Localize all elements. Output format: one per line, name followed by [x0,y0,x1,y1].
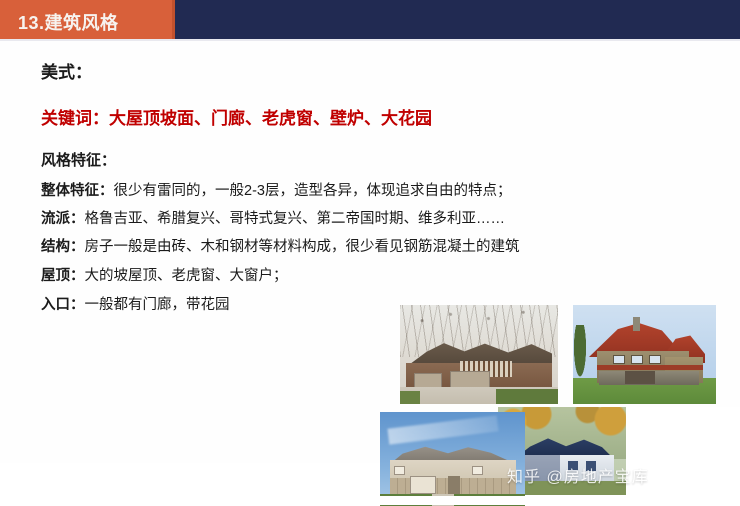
keywords-line: 关键词：大屋顶坡面、门廊、老虎窗、壁炉、大花园 [41,104,432,129]
header-divider [0,39,740,41]
slide-header: 13.建筑风格 [0,0,740,39]
slide-body: 美式： 关键词：大屋顶坡面、门廊、老虎窗、壁炉、大花园 风格特征： 整体特征：很… [0,42,740,463]
collage-gap [626,407,740,505]
photo-window [613,355,625,364]
photo-front-door [448,476,460,494]
photo-eave-band [597,365,703,370]
feature-row-structure: 结构：房子一般是由砖、木和钢材等材料构成，很少看见钢筋混凝土的建筑 [41,235,520,256]
feature-label: 结构： [41,239,85,255]
photo-window [472,466,483,475]
feature-label: 流派： [41,211,85,227]
feature-label: 屋顶： [41,268,85,284]
feature-row-overall: 整体特征：很少有雷同的，一般2-3层，造型各异，体现追求自由的特点； [41,179,511,200]
tudor-brick-house-photo [400,305,558,404]
photo-window [649,355,661,364]
feature-value: 一般都有门廊，带花园 [85,297,230,313]
feature-label: 入口： [41,297,85,313]
features-heading: 风格特征： [41,149,116,170]
feature-label: 整体特征： [41,183,114,199]
feature-value: 房子一般是由砖、木和钢材等材料构成，很少看见钢筋混凝土的建筑 [85,239,520,255]
photo-chimney [633,317,640,331]
feature-value: 格鲁吉亚、希腊复兴、哥特式复兴、第二帝国时期、维多利亚…… [85,211,506,227]
photo-window [631,355,643,364]
photo-tree [573,325,587,381]
red-roof-render [573,305,716,404]
photo-window [394,466,405,475]
photo-garage-door [410,476,436,494]
beige-stucco-house-photo [380,412,525,506]
feature-value: 大的坡屋顶、老虎窗、大窗户； [85,268,288,284]
feature-row-schools: 流派：格鲁吉亚、希腊复兴、哥特式复兴、第二帝国时期、维多利亚…… [41,207,505,228]
slide: 13.建筑风格 美式： 关键词：大屋顶坡面、门廊、老虎窗、壁炉、大花园 风格特征… [0,0,740,463]
feature-row-entrance: 入口：一般都有门廊，带花园 [41,293,230,314]
watermark: 知乎 @房地产宝库 [507,463,649,487]
style-name: 美式： [41,58,92,83]
page-title: 13.建筑风格 [18,9,119,35]
feature-value: 很少有雷同的，一般2-3层，造型各异，体现追求自由的特点； [114,183,512,199]
photo-lawn [400,391,420,404]
photo-garage-door [625,371,655,384]
collage-gap [378,496,740,505]
photo-lawn [496,389,558,404]
feature-row-roof: 屋顶：大的坡屋顶、老虎窗、大窗户； [41,264,288,285]
